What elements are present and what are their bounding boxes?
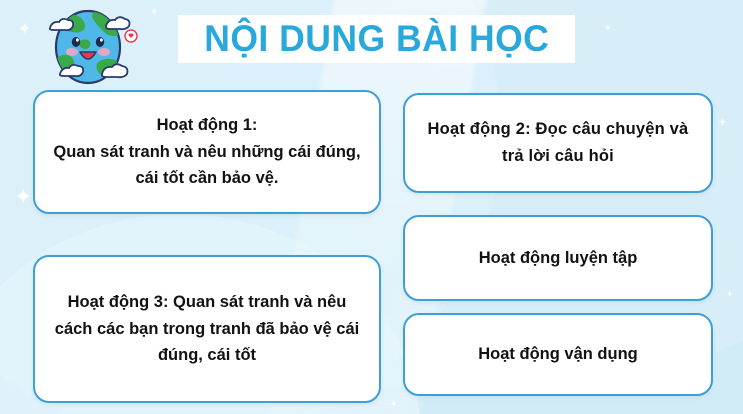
practice-activity-text: Hoạt động luyện tập [465,245,652,272]
sparkle-icon: ✦ [726,290,734,299]
sparkle-icon: ✦ [18,22,31,38]
activity-1-card[interactable]: Hoạt động 1:Quan sát tranh và nêu những … [33,90,381,214]
practice-activity-card[interactable]: Hoạt động luyện tập [403,215,713,301]
application-activity-text: Hoạt động vận dụng [464,341,651,368]
sparkle-icon: ✦ [14,186,32,208]
page-title: NỘI DUNG BÀI HỌC [204,18,549,60]
smiling-earth-globe-icon [36,4,146,90]
activity-1-text: Hoạt động 1:Quan sát tranh và nêu những … [35,112,379,192]
sparkle-icon: ✦ [718,118,727,129]
activity-2-card[interactable]: Hoạt động 2: Đọc câu chuyện và trả lời c… [403,93,713,193]
slide-root: ✦✦✦✦✦✦✦✦ [0,0,743,414]
activity-2-text: Hoạt động 2: Đọc câu chuyện và trả lời c… [405,116,711,169]
title-banner: NỘI DUNG BÀI HỌC [178,15,575,63]
sparkle-icon: ✦ [604,24,612,33]
activity-3-card[interactable]: Hoạt động 3: Quan sát tranh và nêu cách … [33,255,381,403]
sparkle-icon: ✦ [150,8,158,18]
activity-3-text: Hoạt động 3: Quan sát tranh và nêu cách … [35,289,379,369]
application-activity-card[interactable]: Hoạt động vận dụng [403,313,713,396]
sparkle-icon: ✦ [390,400,398,409]
